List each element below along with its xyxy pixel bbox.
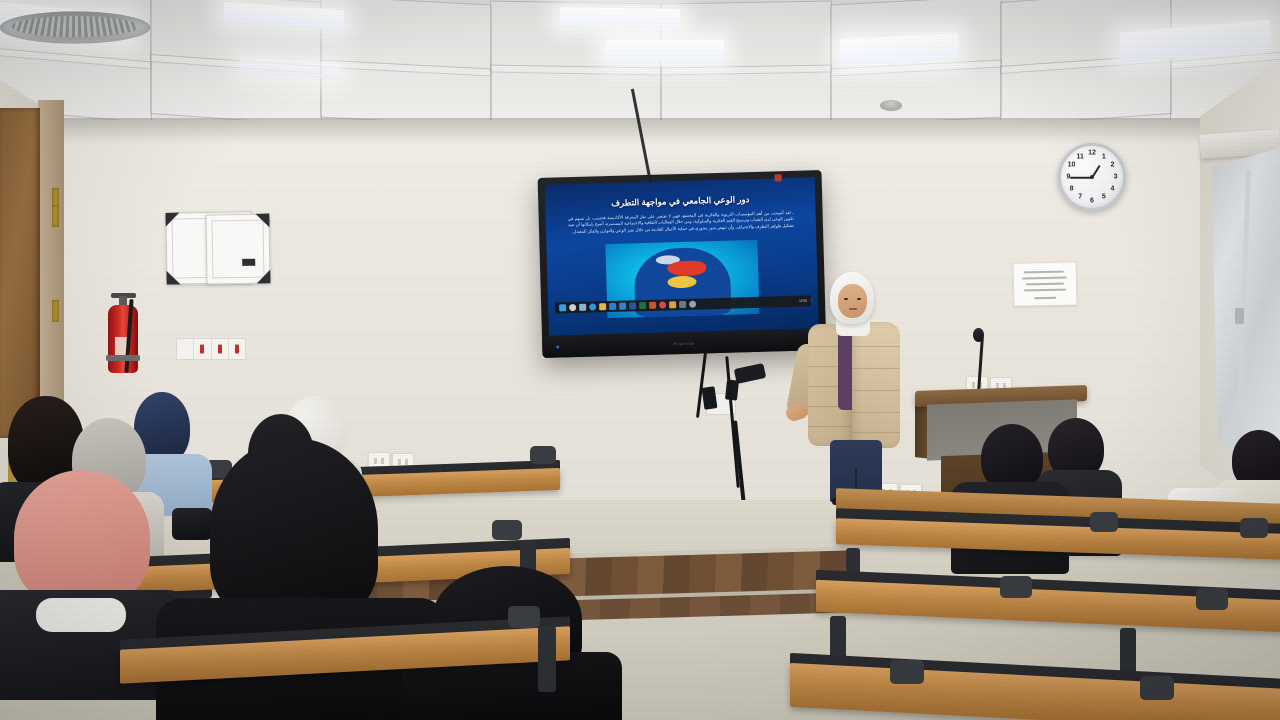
- chrome-icon[interactable]: [659, 301, 666, 308]
- clock-numeral: 6: [1090, 197, 1094, 204]
- frame-corner: [166, 271, 180, 285]
- window-latch[interactable]: [1235, 308, 1244, 324]
- light-switch-panel[interactable]: [176, 338, 246, 360]
- edge-icon[interactable]: [589, 303, 596, 310]
- light-switch[interactable]: [228, 339, 245, 359]
- switch-label-cell: [177, 339, 193, 359]
- search-icon[interactable]: [569, 304, 576, 311]
- light-switch[interactable]: [211, 339, 228, 359]
- display-power-led: [556, 345, 559, 348]
- ceiling-light-panel: [560, 7, 680, 27]
- clock-numeral: 12: [1088, 150, 1096, 157]
- frame-corner: [255, 213, 269, 227]
- clock-minute-hand: [1070, 177, 1092, 179]
- excel-icon[interactable]: [639, 302, 646, 309]
- clock-numeral: 5: [1102, 194, 1106, 201]
- file-explorer-icon[interactable]: [599, 303, 606, 310]
- clock-numeral: 11: [1077, 153, 1084, 160]
- display-brand-label: Hisense: [673, 340, 695, 346]
- slide-title: دور الوعي الجامعي في مواجهة التطرف: [555, 193, 805, 211]
- folder-icon[interactable]: [669, 301, 676, 308]
- student-collar: [36, 598, 126, 632]
- presenter-mouth: [849, 308, 857, 310]
- powerpoint-icon[interactable]: [649, 302, 656, 309]
- clock-numeral: 1: [1102, 153, 1106, 160]
- certificate-logo: [242, 259, 255, 266]
- student-head: [14, 470, 150, 606]
- slide-body-text: ـ لقد أصبحت من أهم المؤسسات التربوية وال…: [556, 210, 806, 236]
- ceiling-light-panel: [606, 40, 724, 62]
- student-head: [210, 438, 378, 620]
- frame-corner: [256, 269, 270, 283]
- interactive-smart-board[interactable]: دور الوعي الجامعي في مواجهة التطرف ـ لقد…: [538, 170, 827, 358]
- word-icon[interactable]: [629, 302, 636, 309]
- door-frame: [38, 100, 64, 444]
- frame-corner: [165, 213, 179, 227]
- clock-numeral: 10: [1068, 162, 1076, 169]
- wall-notice: [1013, 261, 1078, 306]
- settings-icon[interactable]: [689, 301, 696, 308]
- clock-numeral: 3: [1114, 174, 1118, 181]
- clock-numeral: 8: [1070, 185, 1074, 192]
- task-view-icon[interactable]: [579, 304, 586, 311]
- suspended-ceiling: [0, 0, 1280, 135]
- presenter-jacket-right: [852, 322, 900, 448]
- mail-icon[interactable]: [609, 303, 616, 310]
- fire-extinguisher[interactable]: [108, 293, 138, 373]
- lecture-hall-door[interactable]: [0, 108, 40, 438]
- media-player-icon[interactable]: [679, 301, 686, 308]
- clock-numeral: 2: [1111, 162, 1115, 169]
- clock-numeral: 4: [1111, 185, 1115, 192]
- wall-clock: 12 1 2 3 4 5 6 7 8 9 10 11: [1058, 143, 1126, 211]
- clock-numeral: 7: [1078, 194, 1082, 201]
- door-hinge: [52, 205, 59, 227]
- door-hinge: [52, 300, 59, 322]
- lecture-hall-photo: 12 1 2 3 4 5 6 7 8 9 10 11 دور الوعي الج…: [0, 0, 1280, 720]
- store-icon[interactable]: [619, 303, 626, 310]
- smoke-detector: [880, 100, 902, 111]
- female-presenter: [786, 272, 916, 504]
- light-switch[interactable]: [193, 339, 210, 359]
- display-corner-logo: [775, 174, 782, 181]
- extinguisher-bracket: [106, 355, 140, 361]
- clock-center-pin: [1090, 175, 1094, 179]
- display-screen[interactable]: دور الوعي الجامعي في مواجهة التطرف ـ لقد…: [545, 177, 819, 335]
- framed-certificate-right: [205, 213, 270, 284]
- black-backpack: [172, 508, 212, 540]
- start-icon[interactable]: [559, 304, 566, 311]
- microphone-head-icon: [973, 328, 984, 342]
- presenter-face: [838, 284, 867, 318]
